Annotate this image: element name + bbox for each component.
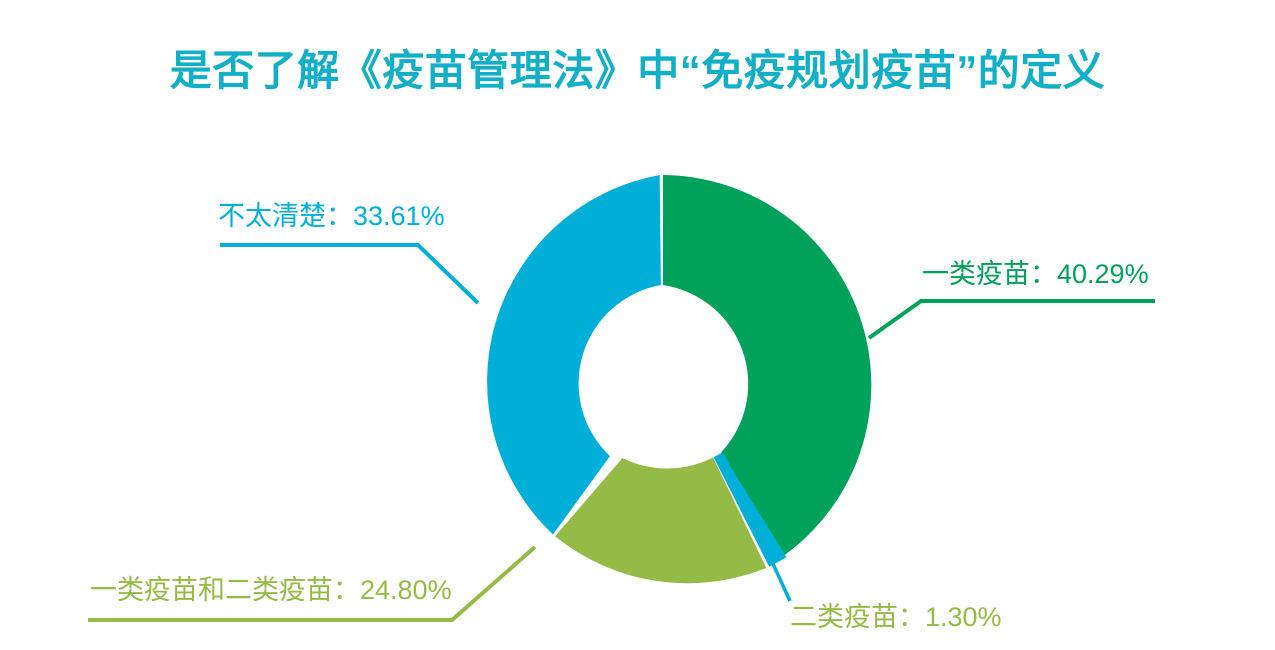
leader-line-buqingchu	[220, 245, 478, 303]
slice-label-yilei-erlei: 一类疫苗和二类疫苗：24.80%	[90, 577, 452, 604]
slice-label-buqingchu: 不太清楚：33.61%	[218, 203, 445, 230]
slice-label-erlei: 二类疫苗：1.30%	[790, 604, 1002, 631]
chart-canvas: 是否了解《疫苗管理法》中“免疫规划疫苗”的定义 不太清楚：33.61% 一类疫苗…	[0, 0, 1275, 650]
slice-label-yilei: 一类疫苗：40.29%	[922, 261, 1149, 288]
donut-chart	[0, 0, 1275, 650]
leader-line-yilei	[869, 301, 1155, 338]
